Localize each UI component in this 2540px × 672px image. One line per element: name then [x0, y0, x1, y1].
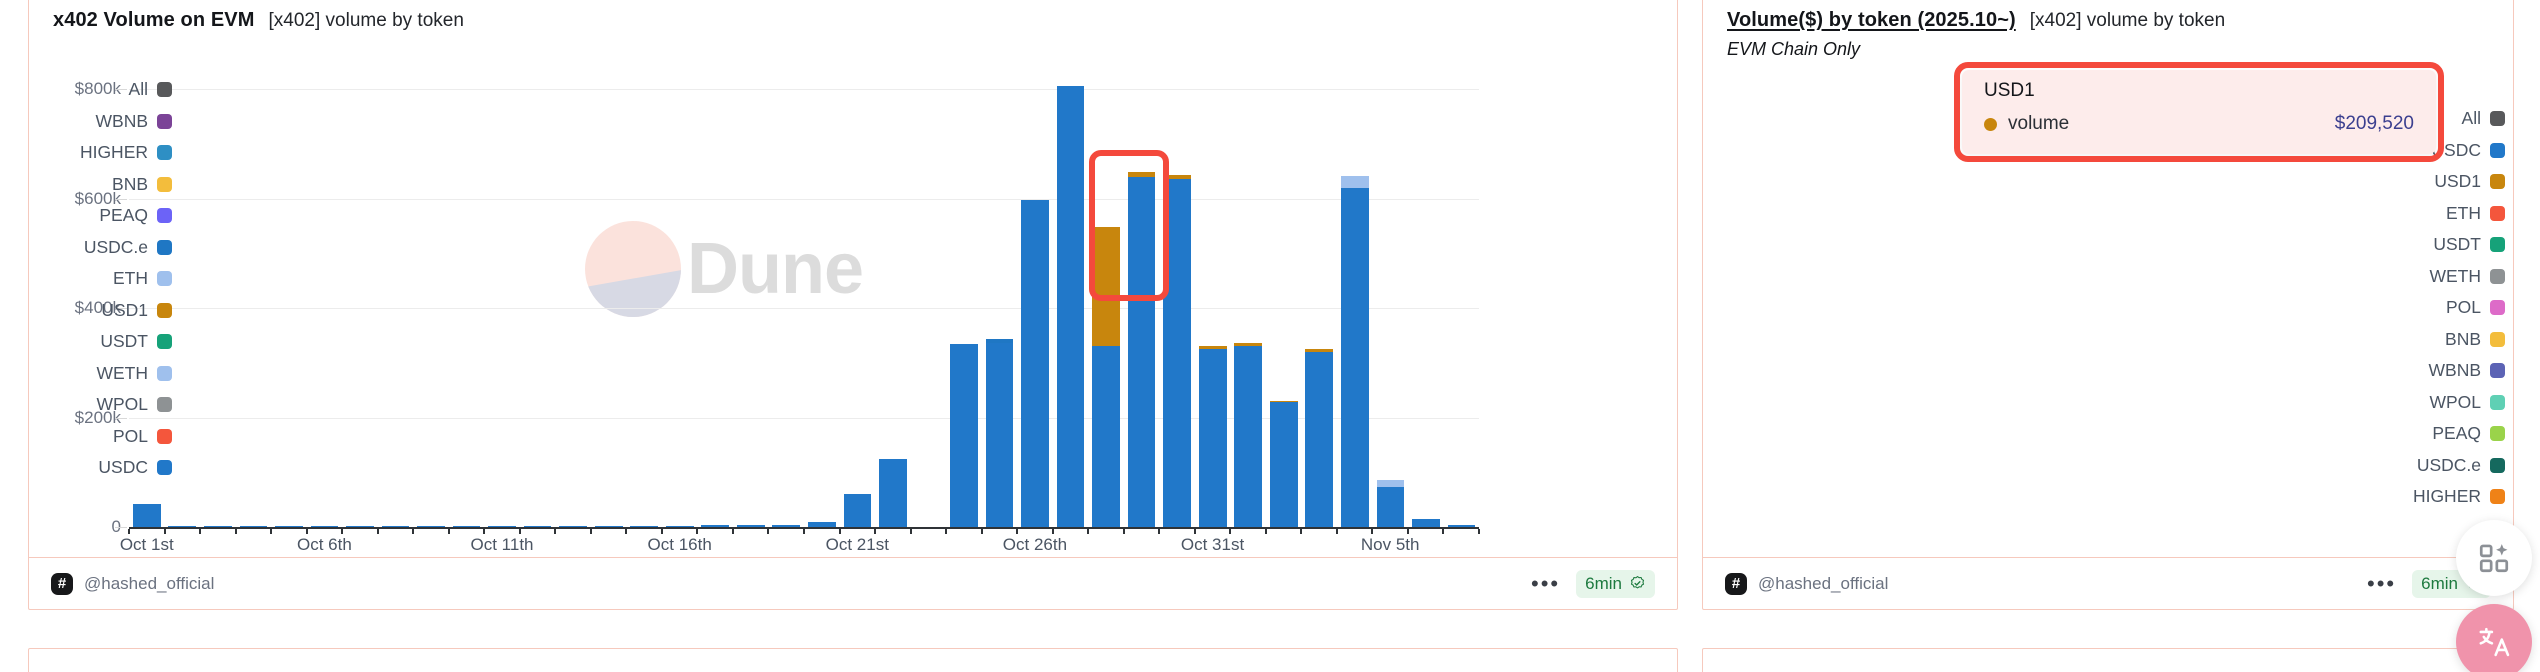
bar-slot[interactable]: [1124, 51, 1160, 527]
x-axis-tick-mark: [1442, 529, 1444, 534]
verified-check-icon: [1629, 575, 1646, 592]
legend-color-swatch-icon: [2490, 395, 2505, 410]
x-axis-tick-mark: [910, 529, 912, 534]
x-axis-tick-mark: [270, 529, 272, 534]
x-axis-tick-label: Oct 1st: [120, 535, 174, 555]
bar-slot[interactable]: [1408, 51, 1444, 527]
x-axis-tick-mark: [981, 529, 983, 534]
apps-grid-fab-button[interactable]: [2456, 520, 2532, 596]
bar-segment-usdc[interactable]: [737, 525, 765, 527]
x-axis-ticks: Oct 1stOct 6thOct 11thOct 16thOct 21stOc…: [129, 535, 1479, 555]
legend-color-swatch-icon: [2490, 206, 2505, 221]
legend-item-usd1[interactable]: USD1: [2355, 166, 2505, 198]
x-axis-tick-label: Oct 11th: [471, 535, 534, 555]
bar-slot[interactable]: [307, 51, 343, 527]
bar-slot[interactable]: [982, 51, 1018, 527]
x-axis-tick-mark: [341, 529, 343, 534]
legend-item-label: WETH: [2429, 266, 2481, 287]
stacked-bar[interactable]: [1448, 525, 1476, 527]
bar-segment-usdc[interactable]: [1021, 200, 1049, 527]
legend-item-label: ETH: [2446, 203, 2481, 224]
legend-color-swatch-icon: [2490, 300, 2505, 315]
stacked-bar[interactable]: [382, 526, 410, 527]
bar-segment-usdc[interactable]: [453, 526, 481, 527]
x-axis-tick-label: Oct 21st: [826, 535, 889, 555]
legend-color-swatch-icon: [2490, 363, 2505, 378]
legend-item-label: USDC: [98, 457, 148, 478]
x-axis-tick-mark: [696, 529, 698, 534]
tooltip-series-dot-icon: [1984, 118, 1997, 131]
bar-segment-usdc[interactable]: [1305, 352, 1333, 527]
bar-segment-usdc[interactable]: [488, 526, 516, 527]
legend-item-label: WBNB: [2429, 360, 2482, 381]
bar-slot[interactable]: [484, 51, 520, 527]
bar-segment-usdc[interactable]: [1341, 188, 1369, 527]
legend-color-swatch-icon: [157, 429, 172, 444]
stacked-bar[interactable]: [772, 525, 800, 527]
legend-color-swatch-icon: [157, 177, 172, 192]
legend-color-swatch-icon: [2490, 174, 2505, 189]
legend-item-label: POL: [2446, 297, 2481, 318]
stacked-bar[interactable]: [1021, 200, 1049, 527]
stacked-bar[interactable]: [133, 504, 161, 527]
bar-segment-usdc[interactable]: [844, 494, 872, 527]
left-panel-footer: # @hashed_official ••• 6min: [29, 557, 1677, 609]
legend-item-pol[interactable]: POL: [2355, 292, 2505, 324]
bar-slot[interactable]: [662, 51, 698, 527]
x-axis-tick-mark: [448, 529, 450, 534]
stacked-bar[interactable]: [524, 526, 552, 527]
x-axis-tick-mark: [1016, 529, 1018, 534]
x-axis-tick-mark: [1336, 529, 1338, 534]
legend-item-label: USDT: [2433, 234, 2481, 255]
bar-segment-usdc[interactable]: [1270, 402, 1298, 527]
x-axis-tick-mark: [732, 529, 734, 534]
bar-slot[interactable]: [840, 51, 876, 527]
bar-segment-eth[interactable]: [1341, 176, 1369, 188]
translate-fab-button[interactable]: [2456, 604, 2532, 672]
x-axis-tick-label: Oct 31st: [1181, 535, 1244, 555]
bar-segment-usdc[interactable]: [701, 525, 729, 527]
legend-color-swatch-icon: [2490, 458, 2505, 473]
stacked-bar[interactable]: [666, 526, 694, 527]
legend-color-swatch-icon: [2490, 269, 2505, 284]
bar-slot[interactable]: [449, 51, 485, 527]
x-axis-tick-label: Oct 16th: [648, 535, 712, 555]
bar-slot[interactable]: [555, 51, 591, 527]
legend-color-swatch-icon: [157, 240, 172, 255]
stacked-bar[interactable]: [346, 526, 374, 527]
bar-slot[interactable]: [520, 51, 556, 527]
legend-color-swatch-icon: [2490, 332, 2505, 347]
bar-slot[interactable]: [591, 51, 627, 527]
bar-segment-usdc[interactable]: [1377, 487, 1405, 527]
right-chart-legend: AllUSDCUSD1ETHUSDTWETHPOLBNBWBNBWPOLPEAQ…: [2355, 103, 2505, 513]
legend-item-peaq[interactable]: PEAQ: [2355, 418, 2505, 450]
bar-segment-usdc[interactable]: [879, 459, 907, 527]
legend-color-swatch-icon: [157, 460, 172, 475]
left-panel-subtitle: [x402] volume by token: [269, 10, 464, 32]
x-axis-tick-mark: [1265, 529, 1267, 534]
bar-segment-usdc[interactable]: [133, 504, 161, 527]
bar-slot[interactable]: [698, 51, 734, 527]
x-axis-tick-mark: [1123, 529, 1125, 534]
legend-item-label: USDC.e: [2417, 455, 2481, 476]
stacked-bar[interactable]: [950, 344, 978, 527]
bar-slot[interactable]: [413, 51, 449, 527]
dune-badge-icon: #: [51, 573, 73, 595]
legend-color-swatch-icon: [2490, 237, 2505, 252]
bar-segment-usdc[interactable]: [275, 526, 303, 527]
x-axis-tick-label: Oct 6th: [297, 535, 352, 555]
bar-segment-usdc[interactable]: [382, 526, 410, 527]
x-axis-tick-mark: [377, 529, 379, 534]
legend-color-swatch-icon: [157, 114, 172, 129]
right-refresh-label: 6min: [2421, 574, 2458, 594]
bar-segment-usdc[interactable]: [1448, 525, 1476, 527]
bar-slot[interactable]: [1017, 51, 1053, 527]
x-axis-tick-mark: [128, 529, 130, 534]
right-panel-subtitle: [x402] volume by token: [2030, 10, 2225, 32]
legend-item-eth[interactable]: ETH: [2355, 198, 2505, 230]
bar-slot[interactable]: [946, 51, 982, 527]
stacked-bar[interactable]: [168, 526, 196, 527]
legend-item-weth[interactable]: WETH: [2355, 261, 2505, 293]
left-panel-author-name: @hashed_official: [84, 574, 214, 594]
bar-slot[interactable]: [875, 51, 911, 527]
bar-segment-usdc[interactable]: [1234, 346, 1262, 527]
legend-item-label: USDC: [2431, 140, 2481, 161]
legend-item-eth[interactable]: ETH: [32, 263, 172, 295]
bar-slot[interactable]: [911, 51, 947, 527]
stacked-bar[interactable]: [204, 526, 232, 527]
tooltip-row: volume $209,520: [1984, 113, 2414, 135]
bar-segment-usdc[interactable]: [666, 526, 694, 527]
legend-item-usd1[interactable]: USD1: [32, 295, 172, 327]
legend-item-usdt[interactable]: USDT: [2355, 229, 2505, 261]
left-refresh-label: 6min: [1585, 574, 1622, 594]
legend-item-label: WPOL: [96, 394, 148, 415]
legend-color-swatch-icon: [157, 334, 172, 349]
x-axis-tick-mark: [1087, 529, 1089, 534]
bar-segment-usdc[interactable]: [595, 526, 623, 527]
x-axis-tick-mark: [803, 529, 805, 534]
legend-item-bnb[interactable]: BNB: [32, 169, 172, 201]
x-axis-tick-mark: [306, 529, 308, 534]
bar-segment-usdc[interactable]: [1199, 349, 1227, 527]
legend-item-wpol[interactable]: WPOL: [32, 389, 172, 421]
legend-color-swatch-icon: [2490, 143, 2505, 158]
bar-slot[interactable]: [733, 51, 769, 527]
x-axis-tick-mark: [164, 529, 166, 534]
right-panel-footer: # @hashed_official ••• 6min: [1703, 557, 2513, 609]
bar-slot[interactable]: [342, 51, 378, 527]
next-panel-left: [28, 648, 1678, 672]
stacked-bar[interactable]: [1199, 346, 1227, 527]
bar-segment-usdc[interactable]: [1092, 346, 1120, 527]
right-panel-author-name: @hashed_official: [1758, 574, 1888, 594]
legend-item-bnb[interactable]: BNB: [2355, 324, 2505, 356]
x-axis-tick-mark: [483, 529, 485, 534]
right-more-options-button[interactable]: •••: [2367, 577, 2396, 590]
bar-segment-usdc[interactable]: [630, 526, 658, 527]
stacked-bar[interactable]: [1128, 172, 1156, 527]
bar-slot[interactable]: [1195, 51, 1231, 527]
bar-slot[interactable]: [1337, 51, 1373, 527]
y-axis-tick-mark: [115, 527, 127, 528]
x-axis-tick-label: Oct 26th: [1003, 535, 1067, 555]
bar-segment-usdc[interactable]: [1412, 519, 1440, 527]
bar-slot[interactable]: [271, 51, 307, 527]
stacked-bar[interactable]: [1092, 227, 1120, 527]
legend-item-label: BNB: [112, 174, 148, 195]
donut-tooltip: USD1 volume $209,520: [1962, 70, 2436, 154]
bar-segment-usdc[interactable]: [417, 526, 445, 527]
right-panel-header: Volume($) by token (2025.10~) [x402] vol…: [1727, 9, 2225, 32]
apps-sparkle-icon: [2477, 541, 2511, 575]
left-more-options-button[interactable]: •••: [1531, 577, 1560, 590]
bar-slot[interactable]: [626, 51, 662, 527]
stacked-bar[interactable]: [275, 526, 303, 527]
legend-item-label: HIGHER: [80, 142, 148, 163]
legend-item-weth[interactable]: WETH: [32, 358, 172, 390]
x-axis-tick-mark: [767, 529, 769, 534]
x-axis-tick-mark: [1158, 529, 1160, 534]
stacked-bar[interactable]: [1412, 519, 1440, 527]
bar-slot[interactable]: [1373, 51, 1409, 527]
tooltip-series-name: volume: [2008, 113, 2069, 135]
legend-item-wbnb[interactable]: WBNB: [32, 106, 172, 138]
legend-color-swatch-icon: [157, 271, 172, 286]
bar-chart-plot-area: 0$200k$400k$600k$800k Oct 1stOct 6thOct …: [129, 51, 1479, 529]
x-axis-tick-label: Nov 5th: [1361, 535, 1420, 555]
translate-icon: [2476, 624, 2512, 660]
stacked-bar[interactable]: [453, 526, 481, 527]
bar-segment-usdc[interactable]: [524, 526, 552, 527]
bar-segment-usdc[interactable]: [808, 522, 836, 527]
bar-segment-usdc[interactable]: [204, 526, 232, 527]
stacked-bar[interactable]: [630, 526, 658, 527]
right-panel-note: EVM Chain Only: [1727, 39, 1860, 60]
left-panel-header: x402 Volume on EVM [x402] volume by toke…: [53, 9, 464, 32]
legend-item-label: HIGHER: [2413, 486, 2481, 507]
legend-color-swatch-icon: [2490, 426, 2505, 441]
dashboard-page: x402 Volume on EVM [x402] volume by toke…: [0, 0, 2540, 672]
bar-slot[interactable]: [1266, 51, 1302, 527]
bar-slot[interactable]: [804, 51, 840, 527]
legend-item-all[interactable]: All: [32, 74, 172, 106]
legend-item-label: USD1: [101, 300, 148, 321]
stacked-bar[interactable]: [1270, 401, 1298, 527]
legend-item-label: WBNB: [96, 111, 149, 132]
bar-segment-usdc[interactable]: [1057, 86, 1085, 527]
panel-x402-volume-on-evm: x402 Volume on EVM [x402] volume by toke…: [28, 0, 1678, 610]
bar-segment-usdc[interactable]: [559, 526, 587, 527]
stacked-bar[interactable]: [311, 526, 339, 527]
x-axis-tick-mark: [1194, 529, 1196, 534]
bar-slot[interactable]: [1053, 51, 1089, 527]
legend-item-usdt[interactable]: USDT: [32, 326, 172, 358]
legend-item-label: PEAQ: [2432, 423, 2481, 444]
stacked-bar[interactable]: [417, 526, 445, 527]
stacked-bar[interactable]: [559, 526, 587, 527]
legend-item-wbnb[interactable]: WBNB: [2355, 355, 2505, 387]
x-axis-tick-mark: [945, 529, 947, 534]
legend-item-label: All: [2462, 108, 2481, 129]
bar-slot[interactable]: [200, 51, 236, 527]
bar-slot[interactable]: [378, 51, 414, 527]
left-chart-legend: AllWBNBHIGHERBNBPEAQUSDC.eETHUSD1USDTWET…: [32, 74, 172, 484]
legend-item-label: ETH: [113, 268, 148, 289]
dune-badge-icon: #: [1725, 573, 1747, 595]
stacked-bar[interactable]: [737, 525, 765, 527]
bar-slot[interactable]: [1230, 51, 1266, 527]
x-axis-tick-mark: [839, 529, 841, 534]
legend-item-higher[interactable]: HIGHER: [2355, 481, 2505, 513]
x-axis-tick-mark: [1478, 529, 1480, 534]
x-axis-tick-mark: [519, 529, 521, 534]
legend-item-label: POL: [113, 426, 148, 447]
legend-color-swatch-icon: [157, 208, 172, 223]
bar-segment-usdc[interactable]: [1128, 177, 1156, 527]
legend-item-label: USD1: [2434, 171, 2481, 192]
bar-segment-usdc[interactable]: [986, 343, 1014, 527]
x-axis-tick-mark: [412, 529, 414, 534]
tooltip-title: USD1: [1984, 80, 2414, 102]
bar-segment-usdc[interactable]: [950, 344, 978, 527]
legend-item-label: All: [129, 79, 148, 100]
stacked-bar[interactable]: [1305, 349, 1333, 527]
bar-slot[interactable]: [1159, 51, 1195, 527]
bar-segment-usd1[interactable]: [1092, 227, 1120, 346]
x-axis-tick-mark: [1229, 529, 1231, 534]
legend-item-usdc[interactable]: USDC: [32, 452, 172, 484]
x-axis-tick-mark: [199, 529, 201, 534]
bar-segment-usdc[interactable]: [311, 526, 339, 527]
stacked-bar[interactable]: [1234, 343, 1262, 527]
legend-item-pol[interactable]: POL: [32, 421, 172, 453]
legend-item-higher[interactable]: HIGHER: [32, 137, 172, 169]
x-axis-tick-mark: [661, 529, 663, 534]
right-panel-author[interactable]: # @hashed_official: [1725, 573, 1888, 595]
legend-color-swatch-icon: [157, 82, 172, 97]
stacked-bar[interactable]: [844, 494, 872, 527]
legend-color-swatch-icon: [157, 145, 172, 160]
legend-item-label: PEAQ: [99, 205, 148, 226]
right-panel-title[interactable]: Volume($) by token (2025.10~): [1727, 9, 2016, 32]
legend-item-label: WPOL: [2429, 392, 2481, 413]
legend-item-peaq[interactable]: PEAQ: [32, 200, 172, 232]
stacked-bar[interactable]: [488, 526, 516, 527]
stacked-bar[interactable]: [1057, 86, 1085, 527]
left-panel-title[interactable]: x402 Volume on EVM: [53, 9, 255, 32]
bar-segment-usdc[interactable]: [346, 526, 374, 527]
legend-color-swatch-icon: [2490, 489, 2505, 504]
x-axis-tick-mark: [235, 529, 237, 534]
x-axis-tick-mark: [625, 529, 627, 534]
x-axis-tick-mark: [874, 529, 876, 534]
stacked-bar[interactable]: [1377, 480, 1405, 527]
bar-slot[interactable]: [769, 51, 805, 527]
left-panel-footer-actions: ••• 6min: [1531, 570, 1655, 598]
bar-slot[interactable]: [1088, 51, 1124, 527]
bar-segment-usdc[interactable]: [240, 526, 268, 527]
legend-item-usdc-e[interactable]: USDC.e: [32, 232, 172, 264]
legend-item-label: USDC.e: [84, 237, 148, 258]
legend-item-label: USDT: [100, 331, 148, 352]
bar-segment-usdc[interactable]: [168, 526, 196, 527]
stacked-bar[interactable]: [701, 525, 729, 527]
next-panel-right: [1702, 648, 2514, 672]
left-panel-author[interactable]: # @hashed_official: [51, 573, 214, 595]
bar-slot[interactable]: [1444, 51, 1480, 527]
x-axis-tick-mark: [1407, 529, 1409, 534]
x-axis-tick-mark: [554, 529, 556, 534]
stacked-bar[interactable]: [1341, 176, 1369, 527]
stacked-bar[interactable]: [240, 526, 268, 527]
tooltip-series-value: $209,520: [2335, 113, 2414, 135]
stacked-bar[interactable]: [1163, 175, 1191, 527]
legend-color-swatch-icon: [157, 303, 172, 318]
bar-slot[interactable]: [236, 51, 272, 527]
left-refresh-status-badge[interactable]: 6min: [1576, 570, 1655, 598]
legend-color-swatch-icon: [2490, 111, 2505, 126]
stacked-bar[interactable]: [879, 459, 907, 527]
legend-item-label: WETH: [96, 363, 148, 384]
x-axis-tick-mark: [1371, 529, 1373, 534]
x-axis-tick-mark: [1052, 529, 1054, 534]
stacked-bar[interactable]: [808, 522, 836, 527]
legend-item-usdc-e[interactable]: USDC.e: [2355, 450, 2505, 482]
legend-color-swatch-icon: [157, 397, 172, 412]
x-axis-tick-mark: [1300, 529, 1302, 534]
legend-color-swatch-icon: [157, 366, 172, 381]
bar-segment-usdc[interactable]: [1163, 179, 1191, 527]
stacked-bar[interactable]: [986, 339, 1014, 527]
stacked-bar[interactable]: [595, 526, 623, 527]
bar-segment-usdc[interactable]: [772, 525, 800, 527]
legend-item-label: BNB: [2445, 329, 2481, 350]
x-axis-tick-mark: [590, 529, 592, 534]
bar-slot[interactable]: [1302, 51, 1338, 527]
bar-series-container: [129, 51, 1479, 527]
legend-item-wpol[interactable]: WPOL: [2355, 387, 2505, 419]
